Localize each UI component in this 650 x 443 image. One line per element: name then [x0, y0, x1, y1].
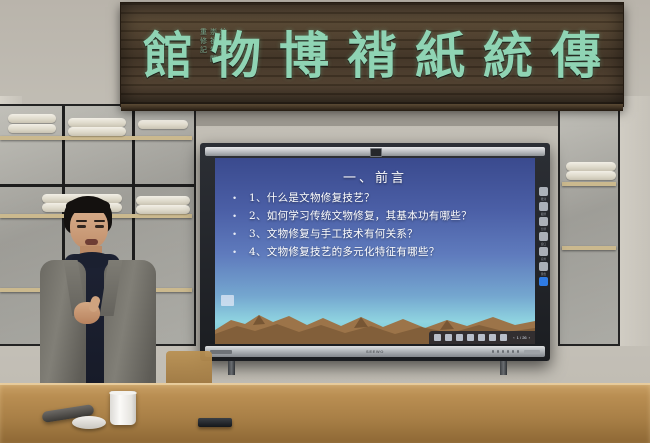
presentation-slide[interactable]: 一、前言 • 1、什么是文物修复技艺？ • 2、如何学习传统文物修复，其基本功有…: [215, 158, 535, 344]
cabinet-glass: [560, 106, 618, 344]
indicator-light: [502, 350, 505, 353]
paper-scroll: [68, 127, 126, 136]
hair-fringe: [66, 198, 110, 213]
indicator-light: [512, 350, 515, 353]
tool-label: 窗口: [539, 242, 548, 246]
cabinet-shelf: [0, 136, 192, 140]
slide-title: 一、前言: [215, 167, 535, 186]
indicator-light: [517, 350, 520, 353]
bezel-left-vent: [210, 350, 232, 354]
blackout-icon[interactable]: [500, 334, 507, 341]
lecture-room-photo: 始 建 於 明 崇 禎 年 間 重 修 記 館 物 博 褙 紙 統: [0, 0, 650, 443]
interactive-flat-panel[interactable]: 一、前言 • 1、什么是文物修复技艺？ • 2、如何学习传统文物修复，其基本功有…: [200, 143, 550, 361]
presenter: [38, 196, 160, 411]
mouth: [85, 239, 98, 245]
camera-icon: [370, 148, 382, 157]
eye: [95, 225, 104, 228]
screenshot-icon[interactable]: 截屏: [539, 202, 548, 211]
presentation-annotation-toolbar[interactable]: ‹ 1 / 26 ›: [429, 331, 535, 344]
pen-icon[interactable]: [445, 334, 452, 341]
eye: [77, 225, 86, 228]
lid-icon: [72, 416, 106, 429]
plaque-char: 物: [205, 25, 267, 87]
indicator-light: [492, 350, 495, 353]
bullet-marker: •: [229, 209, 249, 224]
plaque-characters: 館 物 博 褙 紙 統 傳: [137, 25, 607, 87]
laser-pointer-icon[interactable]: [478, 334, 485, 341]
plaque-char: 博: [273, 25, 335, 87]
keyboard-icon[interactable]: 键盘: [539, 262, 548, 271]
bullet-text: 3、文物修复与手工技术有何关系？: [249, 227, 418, 242]
eyebrow: [94, 220, 105, 222]
list-item: • 1、什么是文物修复技艺？: [229, 191, 525, 206]
tool-label: 应用: [539, 257, 548, 261]
panel-bottom-bezel: SEEWO: [205, 346, 545, 357]
window-icon[interactable]: 窗口: [539, 232, 548, 241]
plaque-char: 館: [137, 25, 199, 87]
tool-label: 批注: [539, 197, 548, 201]
bullet-marker: •: [229, 227, 249, 242]
eraser-icon[interactable]: [467, 334, 474, 341]
tool-label: 键盘: [539, 272, 548, 276]
cabinet-shelf: [562, 182, 616, 186]
cabinet-right: [558, 104, 620, 346]
paper-scroll: [566, 162, 616, 171]
home-icon[interactable]: [539, 277, 548, 286]
zoom-icon[interactable]: [489, 334, 496, 341]
bullet-text: 1、什么是文物修复技艺？: [249, 191, 375, 206]
slide-pager[interactable]: ‹ 1 / 26 ›: [513, 335, 530, 340]
next-slide-button[interactable]: ›: [529, 335, 530, 340]
list-item: • 2、如何学习传统文物修复，其基本功有哪些？: [229, 209, 525, 224]
bullet-text: 2、如何学习传统文物修复，其基本功有哪些？: [249, 209, 472, 224]
prev-slide-button[interactable]: ‹: [513, 335, 514, 340]
highlighter-icon[interactable]: [456, 334, 463, 341]
pen-icon[interactable]: 批注: [539, 187, 548, 196]
indicator-light: [507, 350, 510, 353]
plaque-char: 褙: [341, 25, 403, 87]
paper-scroll: [8, 114, 56, 123]
cabinet-shelf: [562, 246, 616, 250]
phone-icon[interactable]: [198, 418, 232, 427]
cup-icon: [110, 391, 136, 425]
panel-indicator-lights: [492, 350, 520, 353]
cursor-icon[interactable]: [434, 334, 441, 341]
split-screen-icon[interactable]: 分屏: [539, 217, 548, 226]
stand-leg: [500, 361, 507, 375]
panel-brand-label: SEEWO: [366, 349, 384, 354]
slide-bullet-list: • 1、什么是文物修复技艺？ • 2、如何学习传统文物修复，其基本功有哪些？ •…: [229, 191, 525, 263]
list-item: • 3、文物修复与手工技术有何关系？: [229, 227, 525, 242]
apps-icon[interactable]: 应用: [539, 247, 548, 256]
panel-stand: [200, 361, 550, 375]
bullet-marker: •: [229, 245, 249, 260]
tool-label: 分屏: [539, 227, 548, 231]
panel-side-toolbar[interactable]: 批注 截屏 分屏 窗口 应用 键盘: [539, 187, 548, 286]
paper-scroll: [566, 171, 616, 180]
bullet-text: 4、文物修复技艺的多元化特征有哪些？: [249, 245, 440, 260]
plaque-char: 紙: [409, 25, 471, 87]
paper-scroll: [138, 120, 188, 129]
eyebrow: [76, 220, 87, 222]
power-button[interactable]: [524, 350, 540, 354]
museum-name-plaque: 始 建 於 明 崇 禎 年 間 重 修 記 館 物 博 褙 紙 統: [120, 2, 624, 107]
tool-label: 截屏: [539, 212, 548, 216]
cabinet-divider: [0, 184, 194, 187]
table: [0, 383, 650, 443]
paper-scroll: [8, 124, 56, 133]
bullet-marker: •: [229, 191, 249, 206]
paper-scroll: [68, 118, 126, 127]
list-item: • 4、文物修复技艺的多元化特征有哪些？: [229, 245, 525, 260]
slide-page-indicator: 1 / 26: [517, 335, 527, 340]
indicator-light: [497, 350, 500, 353]
plaque-char: 統: [477, 25, 539, 87]
stand-leg: [228, 361, 235, 375]
plaque-char: 傳: [545, 25, 607, 87]
